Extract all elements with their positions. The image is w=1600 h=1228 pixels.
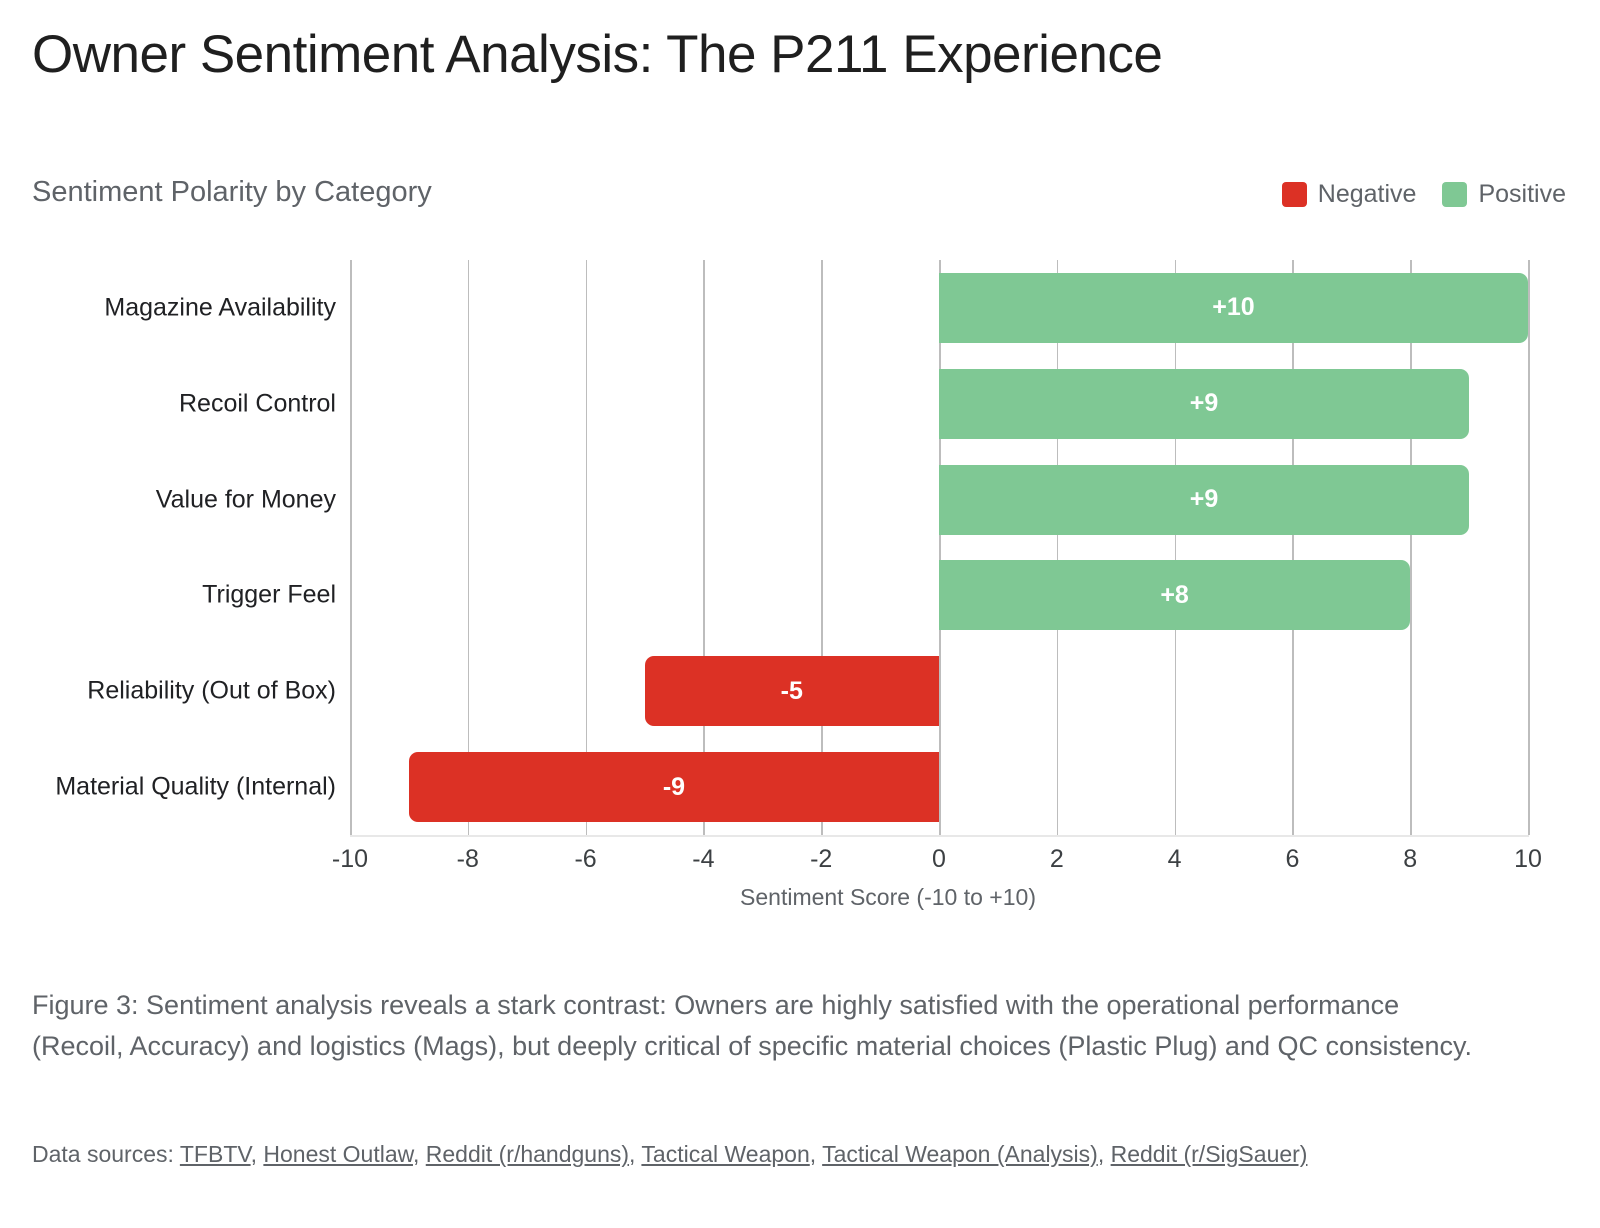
legend-item[interactable]: Negative — [1282, 180, 1417, 209]
gridline — [586, 260, 588, 835]
legend-swatch-icon — [1282, 182, 1307, 207]
bar-value-label: +8 — [1160, 583, 1189, 608]
data-source-link[interactable]: Reddit (r/SigSauer) — [1111, 1141, 1308, 1167]
x-axis-tick-label: 10 — [1514, 845, 1542, 874]
data-sources-label: Data sources: — [32, 1141, 180, 1167]
chart-legend: NegativePositive — [1282, 180, 1566, 209]
data-source-separator: , — [810, 1141, 822, 1167]
data-source-link[interactable]: TFBTV — [180, 1141, 251, 1167]
bar-value-label: -9 — [663, 775, 685, 800]
bar[interactable]: -9 — [409, 752, 939, 822]
y-axis-category-label: Trigger Feel — [0, 581, 336, 610]
x-axis-tick-label: 4 — [1168, 845, 1182, 874]
x-axis-tick-label: 6 — [1285, 845, 1299, 874]
legend-item[interactable]: Positive — [1442, 180, 1566, 209]
x-axis-tick-label: 2 — [1050, 845, 1064, 874]
bar-value-label: +9 — [1190, 391, 1219, 416]
gridline — [350, 260, 352, 835]
gridline — [1292, 260, 1294, 835]
y-axis-category-label: Recoil Control — [0, 389, 336, 418]
bar[interactable]: -5 — [645, 656, 940, 726]
x-axis-title: Sentiment Score (-10 to +10) — [0, 884, 1600, 911]
y-axis-category-label: Value for Money — [0, 485, 336, 514]
data-source-separator: , — [629, 1141, 641, 1167]
bar[interactable]: +9 — [939, 369, 1469, 439]
x-axis-tick-label: 0 — [932, 845, 946, 874]
gridline — [1057, 260, 1059, 835]
gridline — [1528, 260, 1530, 835]
gridline — [1175, 260, 1177, 835]
legend-label: Positive — [1478, 180, 1566, 209]
data-sources: Data sources: TFBTV, Honest Outlaw, Redd… — [32, 1138, 1532, 1171]
gridline — [821, 260, 823, 835]
y-axis-category-label: Material Quality (Internal) — [0, 773, 336, 802]
legend-swatch-icon — [1442, 182, 1467, 207]
x-axis-title-text: Sentiment Score (-10 to +10) — [740, 884, 1036, 910]
data-source-separator: , — [1098, 1141, 1111, 1167]
gridline — [703, 260, 705, 835]
x-axis-tick-label: 8 — [1403, 845, 1417, 874]
bar-value-label: -5 — [781, 679, 803, 704]
x-axis-tick-label: -6 — [574, 845, 596, 874]
figure-caption: Figure 3: Sentiment analysis reveals a s… — [32, 985, 1482, 1067]
x-axis-line — [350, 835, 1529, 837]
data-source-separator: , — [413, 1141, 426, 1167]
bar-value-label: +10 — [1212, 295, 1254, 320]
x-axis-tick-label: -10 — [332, 845, 368, 874]
chart-subtitle: Sentiment Polarity by Category — [32, 176, 432, 209]
bar-value-label: +9 — [1190, 487, 1219, 512]
y-axis-labels: Magazine AvailabilityRecoil ControlValue… — [0, 260, 336, 835]
y-axis-category-label: Reliability (Out of Box) — [0, 677, 336, 706]
bar[interactable]: +10 — [939, 273, 1528, 343]
x-axis-tick-label: -4 — [692, 845, 714, 874]
x-axis-tick-label: -2 — [810, 845, 832, 874]
y-axis-category-label: Magazine Availability — [0, 293, 336, 322]
plot-area: +10+9+9+8-5-9 — [350, 260, 1528, 835]
data-source-link[interactable]: Tactical Weapon (Analysis) — [822, 1141, 1098, 1167]
x-axis-tick-label: -8 — [457, 845, 479, 874]
data-source-separator: , — [251, 1141, 264, 1167]
legend-label: Negative — [1318, 180, 1417, 209]
gridline — [939, 260, 941, 835]
bar[interactable]: +8 — [939, 560, 1410, 630]
bar[interactable]: +9 — [939, 465, 1469, 535]
gridline — [468, 260, 470, 835]
page-title: Owner Sentiment Analysis: The P211 Exper… — [32, 24, 1162, 85]
data-source-link[interactable]: Honest Outlaw — [263, 1141, 413, 1167]
gridline — [1410, 260, 1412, 835]
chart-page: Owner Sentiment Analysis: The P211 Exper… — [0, 0, 1600, 1228]
data-source-link[interactable]: Tactical Weapon — [641, 1141, 809, 1167]
data-source-link[interactable]: Reddit (r/handguns) — [426, 1141, 629, 1167]
